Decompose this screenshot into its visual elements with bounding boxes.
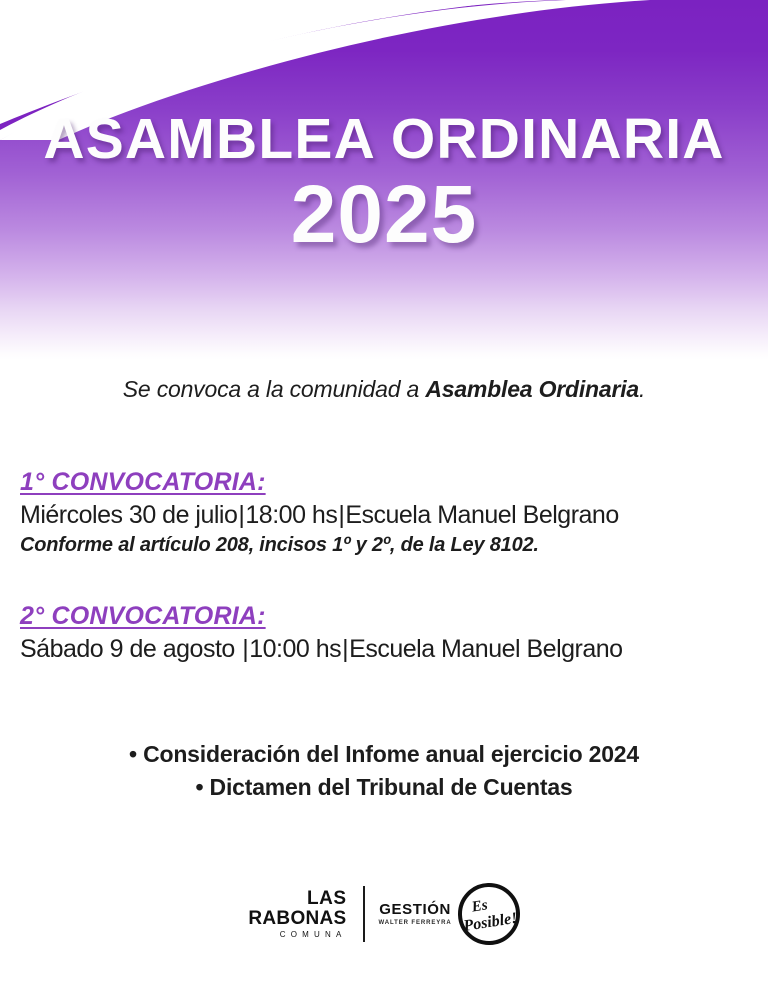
list-item: • Dictamen del Tribunal de Cuentas [0, 771, 768, 804]
intro-suffix: . [639, 376, 645, 402]
convocatoria-1-place: Escuela Manuel Belgrano [345, 501, 618, 529]
footer-logo-bar: LAS RABONAS COMUNA GESTIÓN WALTER FERREY… [0, 878, 768, 950]
intro-text: Se convoca a la comunidad a Asamblea Ord… [0, 374, 768, 404]
es-posible-line2: Posible! [462, 909, 518, 934]
convocatoria-2-place: Escuela Manuel Belgrano [349, 635, 622, 663]
convocatoria-1-details: Miércoles 30 de julio|18:00 hs|Escuela M… [20, 498, 750, 532]
gestion-logo-line1: GESTIÓN [379, 902, 452, 917]
list-item: • Consideración del Infome anual ejercic… [0, 738, 768, 771]
convocatoria-block-1: 1° CONVOCATORIA: Miércoles 30 de julio|1… [20, 466, 750, 559]
es-posible-line1: Es [470, 898, 488, 915]
agenda-list: • Consideración del Infome anual ejercic… [0, 738, 768, 804]
agenda-item-label: Consideración del Infome anual ejercicio… [143, 741, 639, 767]
poster-canvas: ASAMBLEA ORDINARIA 2025 Se convoca a la … [0, 0, 768, 981]
title-year: 2025 [0, 172, 768, 258]
convocatoria-1-legal-note: Conforme al artículo 208, incisos 1º y 2… [20, 532, 750, 559]
convocatoria-block-2: 2° CONVOCATORIA: Sábado 9 de agosto |10:… [20, 600, 750, 666]
comuna-logo-line2: RABONAS [248, 909, 346, 928]
bullet-icon: • [129, 741, 137, 767]
intro-emphasis: Asamblea Ordinaria [425, 376, 639, 402]
convocatoria-2-details: Sábado 9 de agosto |10:00 hs|Escuela Man… [20, 632, 750, 666]
bullet-icon: • [195, 774, 203, 800]
es-posible-badge: Es Posible! [457, 882, 521, 946]
comuna-logo-line3: COMUNA [248, 931, 346, 939]
separator-icon: | [341, 635, 349, 663]
convocatoria-2-time: 10:00 hs [249, 635, 341, 663]
convocatoria-1-time: 18:00 hs [245, 501, 337, 529]
title-block: ASAMBLEA ORDINARIA 2025 [0, 108, 768, 258]
gestion-logo-line2: WALTER FERREYRA [379, 920, 452, 926]
comuna-logo: LAS RABONAS COMUNA [248, 889, 362, 939]
agenda-item-label: Dictamen del Tribunal de Cuentas [210, 774, 573, 800]
logo-divider [363, 886, 365, 942]
page-title: ASAMBLEA ORDINARIA [0, 108, 768, 170]
convocatoria-1-date: Miércoles 30 de julio [20, 501, 237, 529]
convocatoria-1-heading: 1° CONVOCATORIA: [20, 466, 750, 498]
convocatoria-2-heading: 2° CONVOCATORIA: [20, 600, 750, 632]
comuna-logo-line1: LAS [248, 889, 346, 908]
convocatoria-2-date: Sábado 9 de agosto [20, 635, 241, 663]
intro-prefix: Se convoca a la comunidad a [123, 376, 426, 402]
poster-header: ASAMBLEA ORDINARIA 2025 [0, 0, 768, 360]
gestion-logo: GESTIÓN WALTER FERREYRA [379, 902, 458, 926]
